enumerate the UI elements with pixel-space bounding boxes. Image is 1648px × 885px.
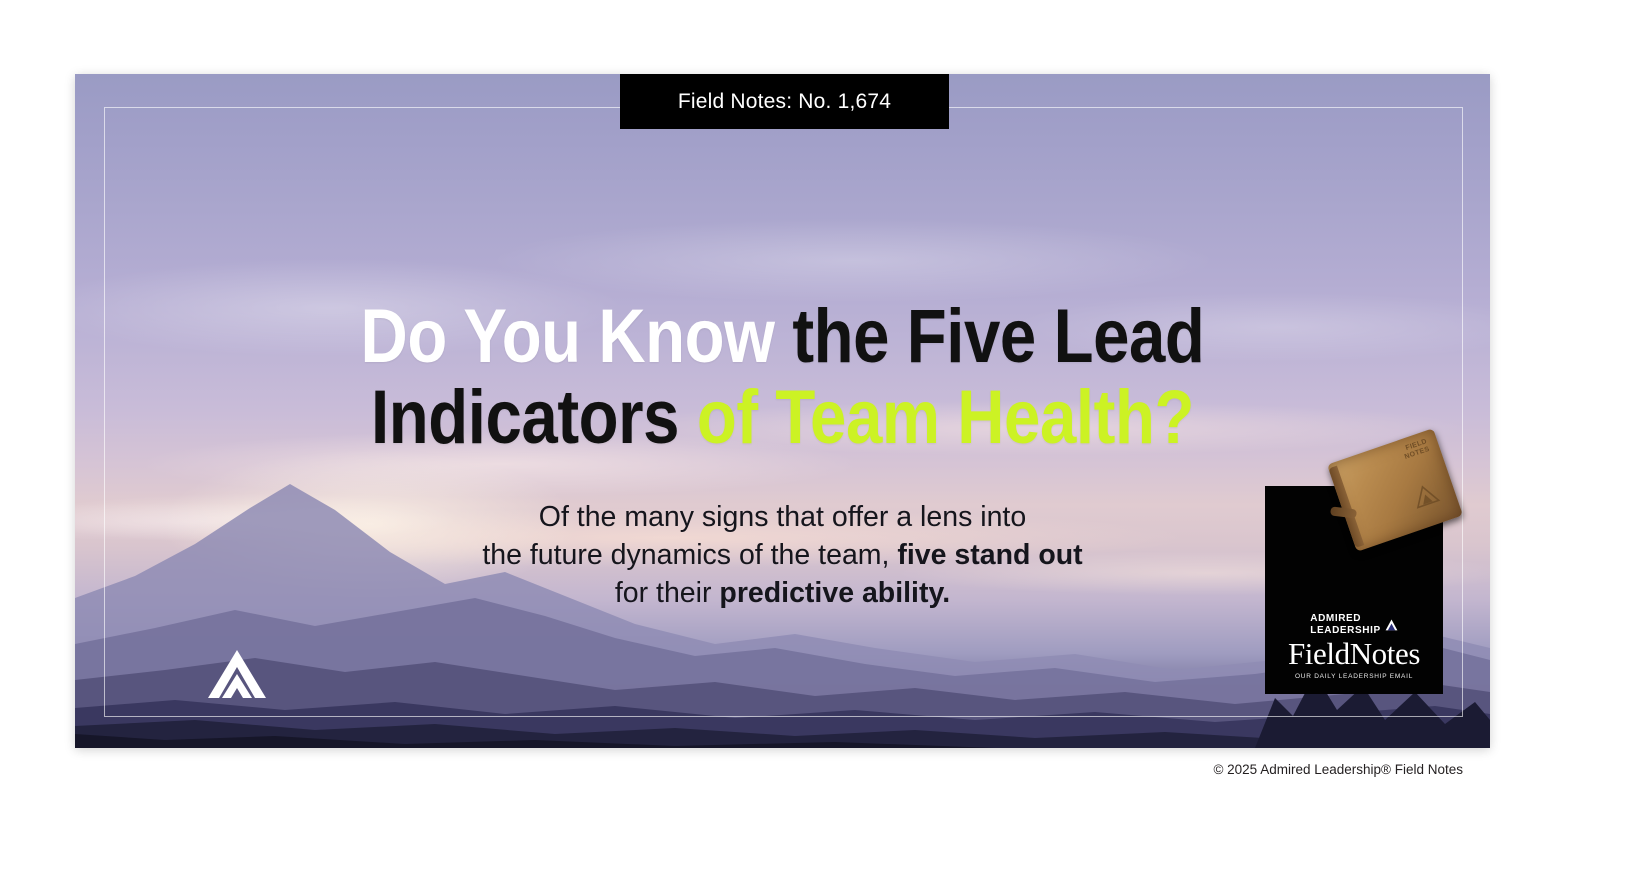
headline-segment-white: Do You Know (361, 294, 775, 379)
badge-tagline: OUR DAILY LEADERSHIP EMAIL (1265, 673, 1443, 680)
subheadline-line-2-normal: the future dynamics of the team, (482, 539, 889, 571)
headline: Do You Know the Five Lead Indicators of … (174, 296, 1391, 458)
notebook-strap (1330, 506, 1357, 518)
headline-segment-green: of Team Health? (679, 375, 1194, 460)
issue-number-label: Field Notes: No. 1,674 (678, 90, 891, 114)
copyright-notice: © 2025 Admired Leadership® Field Notes (1213, 762, 1463, 777)
badge-brand-line-1: ADMIRED (1310, 613, 1380, 625)
badge-wordmark: FieldNotes (1265, 637, 1443, 670)
headline-line-2: Indicators of Team Health? (174, 377, 1391, 458)
subheadline-line-3-normal: for their (615, 577, 712, 609)
badge-brand-row: ADMIRED LEADERSHIP (1265, 613, 1443, 636)
issue-number-tab: Field Notes: No. 1,674 (620, 74, 949, 129)
badge-triangle-icon (1385, 619, 1398, 631)
badge-brand-line-2: LEADERSHIP (1310, 625, 1380, 637)
field-notes-badge[interactable]: FIELD NOTES ADMIRED LEADERSH (1265, 486, 1443, 694)
headline-segment-black-1: the Five Lead (775, 294, 1205, 379)
subheadline-line-2-bold: five stand out (897, 539, 1082, 571)
page-root: Do You Know the Five Lead Indicators of … (0, 0, 1648, 885)
headline-line-1: Do You Know the Five Lead (174, 296, 1391, 377)
badge-brand-words: ADMIRED LEADERSHIP (1310, 613, 1380, 636)
headline-segment-black-2: Indicators (371, 375, 679, 460)
admired-leadership-logo-icon (206, 648, 268, 700)
subheadline-line-3-bold: predictive ability. (719, 577, 950, 609)
hero-banner: Do You Know the Five Lead Indicators of … (75, 74, 1490, 748)
badge-logo-lockup: ADMIRED LEADERSHIP FieldNotes OUR DAILY … (1265, 613, 1443, 680)
badge-inner: FIELD NOTES ADMIRED LEADERSH (1265, 486, 1443, 694)
